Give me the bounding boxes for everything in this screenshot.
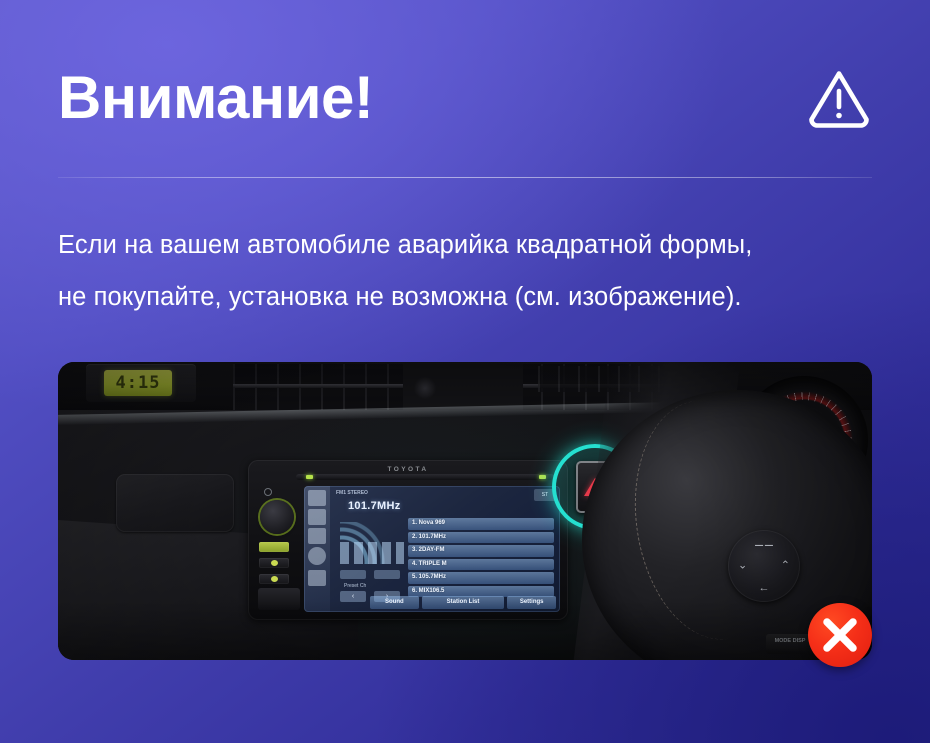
source-icon-5[interactable] bbox=[308, 570, 326, 586]
storage-tray bbox=[258, 588, 300, 610]
source-icon-4[interactable] bbox=[308, 547, 326, 565]
indicator-led-left bbox=[306, 475, 313, 479]
banner-body-text: Если на вашем автомобиле аварийка квадра… bbox=[58, 219, 888, 323]
climate-knobs bbox=[403, 364, 523, 410]
source-icon-1[interactable] bbox=[308, 490, 326, 506]
frequency-display: 101.7MHz bbox=[348, 500, 401, 512]
source-icon-2[interactable] bbox=[308, 509, 326, 525]
mode-disp-button[interactable]: MODE DISP bbox=[766, 634, 814, 654]
seek-button-2[interactable] bbox=[374, 570, 400, 579]
body-line-1: Если на вашем автомобиле аварийка квадра… bbox=[58, 219, 888, 271]
station-list-item[interactable]: 5. 105.7MHz bbox=[408, 572, 554, 584]
cd-slot bbox=[296, 474, 554, 480]
back-arrow-icon[interactable]: ← bbox=[759, 583, 770, 594]
car-dashboard-photo: 4:15 TOYOTA bbox=[58, 362, 872, 660]
header-divider bbox=[58, 177, 872, 178]
tab-settings[interactable]: Settings bbox=[507, 596, 556, 609]
head-unit-controls bbox=[254, 484, 300, 614]
head-unit-button-2[interactable] bbox=[259, 558, 289, 568]
signal-bars-graphic bbox=[340, 542, 404, 564]
head-unit: TOYOTA bbox=[248, 460, 568, 620]
band-label: FM1 STEREO bbox=[336, 490, 368, 496]
head-unit-button-1[interactable] bbox=[259, 542, 289, 552]
photo-content: 4:15 TOYOTA bbox=[58, 362, 872, 660]
button-led-3 bbox=[271, 576, 278, 582]
volume-icon[interactable]: ⚊⚊ bbox=[754, 538, 774, 549]
head-unit-screen[interactable]: FM1 STEREO 101.7MHz ST Preset Ch ‹ › 1. … bbox=[304, 486, 560, 612]
reject-cross-icon bbox=[808, 603, 872, 667]
volume-knob[interactable] bbox=[260, 500, 294, 534]
banner-header: Внимание! bbox=[58, 48, 872, 148]
chevron-up-icon[interactable]: ⌃ bbox=[781, 561, 790, 572]
button-led-2 bbox=[271, 560, 278, 566]
warning-banner: Внимание! Если на вашем автомобиле авари… bbox=[0, 0, 930, 743]
tab-sound[interactable]: Sound bbox=[370, 596, 419, 609]
clock-value: 4:15 bbox=[116, 373, 161, 393]
screen-icon-bar[interactable] bbox=[304, 486, 330, 612]
chevron-down-icon[interactable]: ⌄ bbox=[738, 561, 747, 572]
digital-clock: 4:15 bbox=[104, 370, 172, 396]
tab-station-list[interactable]: Station List bbox=[422, 596, 505, 609]
page-title: Внимание! bbox=[58, 68, 373, 128]
head-unit-brand: TOYOTA bbox=[248, 466, 568, 473]
station-list-item[interactable]: 2. 101.7MHz bbox=[408, 532, 554, 544]
station-list-item[interactable]: 1. Nova 969 bbox=[408, 518, 554, 530]
screen-tab-bar[interactable]: Sound Station List Settings bbox=[370, 596, 556, 609]
seek-button-1[interactable] bbox=[340, 570, 366, 579]
station-list[interactable]: 1. Nova 969 2. 101.7MHz 3. 2DAY-FM 4. TR… bbox=[408, 518, 554, 600]
dashboard-side-panel bbox=[116, 474, 234, 532]
preset-label: Preset Ch bbox=[344, 583, 366, 589]
station-list-item[interactable]: 3. 2DAY-FM bbox=[408, 545, 554, 557]
preset-prev-button[interactable]: ‹ bbox=[340, 591, 366, 602]
body-line-2: не покупайте, установка не возможна (см.… bbox=[58, 271, 888, 323]
steering-wheel-control-pad[interactable]: ⚊⚊ ⌄ ⌃ ← bbox=[728, 530, 800, 602]
source-icon-3[interactable] bbox=[308, 528, 326, 544]
warning-triangle-icon bbox=[806, 65, 872, 131]
station-list-item[interactable]: 4. TRIPLE M bbox=[408, 559, 554, 571]
power-icon[interactable] bbox=[264, 488, 272, 496]
head-unit-button-3[interactable] bbox=[259, 574, 289, 584]
